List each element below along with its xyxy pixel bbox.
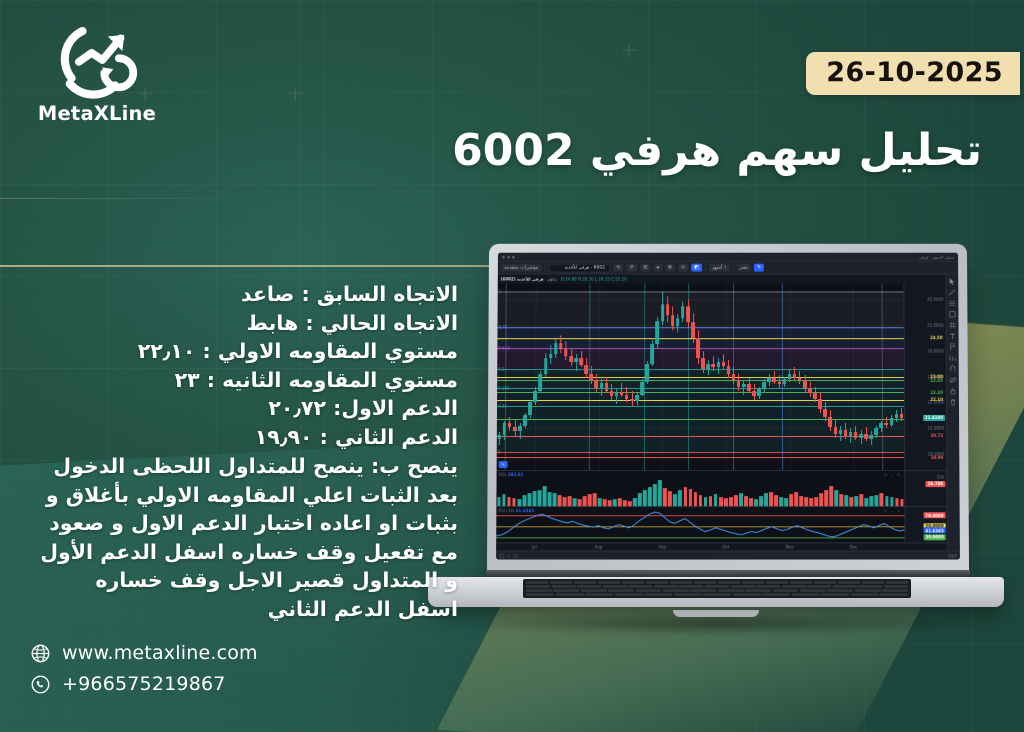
volume-bar xyxy=(673,494,677,506)
volume-bar xyxy=(729,497,733,506)
candlestick-wick xyxy=(693,313,694,343)
volume-bar xyxy=(774,495,778,506)
volume-bar xyxy=(845,495,849,506)
candlestick-wick xyxy=(871,431,872,445)
volume-bar xyxy=(829,486,833,506)
price-axis-tick: 21.0000 xyxy=(928,426,945,431)
price-pane[interactable]: 10.750.6180.50.3820.250 26.000025.000024… xyxy=(497,283,947,470)
level-label-resistance: 24.50 xyxy=(928,335,945,341)
last-price-badge: 21.4100 xyxy=(923,415,945,421)
status-left-icons[interactable] xyxy=(499,553,518,558)
date-badge: 26-10-2025 xyxy=(806,52,1020,95)
fullscreen-icon[interactable] xyxy=(499,553,504,558)
analysis-line-support1: الدعم الاول: ٢٠٫٧٢ xyxy=(40,394,458,423)
laptop-body xyxy=(428,577,1004,607)
candlestick-wick xyxy=(850,428,851,442)
volume-bar xyxy=(709,496,713,506)
keyboard-key xyxy=(674,593,702,596)
volume-bar xyxy=(678,490,682,506)
candlestick-wick xyxy=(891,415,892,427)
volume-bar xyxy=(824,490,828,507)
keyboard-key xyxy=(603,585,627,588)
keyboard-key xyxy=(855,589,881,592)
rsi-line-series xyxy=(496,507,904,542)
volume-bar xyxy=(749,498,753,506)
volume-bar xyxy=(840,494,844,506)
candlestick-wick xyxy=(606,377,607,394)
volume-bar xyxy=(603,500,607,507)
measure-icon[interactable] xyxy=(949,354,957,362)
keyboard-key xyxy=(556,593,584,596)
volume-bar xyxy=(578,499,582,506)
text-tool-icon[interactable] xyxy=(949,332,957,340)
rsi-pane-tag: RSI (14) 41.6343 xyxy=(498,508,534,513)
alert-icon[interactable]: ⊕ xyxy=(665,264,675,272)
volume-bar xyxy=(507,497,511,506)
time-axis-tick: Oct xyxy=(722,544,729,549)
camera-icon[interactable]: ◂ xyxy=(653,264,661,272)
candlestick-wick xyxy=(698,330,699,364)
candlestick-wick xyxy=(667,296,668,322)
drawing-tool-label: ✎ xyxy=(502,462,505,467)
volume-bar xyxy=(850,497,854,506)
app-chart-body: هرفي للأغذية (6002) تداول O:24.80 H:26.3… xyxy=(496,275,947,551)
candlestick-wick xyxy=(876,426,877,438)
keyboard-key xyxy=(598,581,620,584)
candlestick-wick xyxy=(759,387,760,399)
volume-bar xyxy=(557,495,561,506)
keyboard-key xyxy=(636,589,662,592)
volume-value: 292.61 xyxy=(508,472,523,477)
candlestick-wick xyxy=(555,339,556,358)
magnet-icon[interactable] xyxy=(949,365,957,373)
keyboard-key xyxy=(880,593,908,596)
volume-pane-controls[interactable]: ⊙ ⌄ ✕ xyxy=(884,472,902,477)
volume-bar xyxy=(497,497,501,506)
pencil-tool-button[interactable]: ✎ xyxy=(754,264,764,272)
keyboard-key xyxy=(807,585,831,588)
volume-bar xyxy=(683,487,687,506)
candlestick-wick xyxy=(799,371,800,384)
window-minimize-icon[interactable] xyxy=(507,255,510,258)
volume-pane[interactable]: VOL 292.61 ⊙ ⌄ ✕ 26.78K500 xyxy=(496,470,946,506)
candlestick-wick xyxy=(677,314,678,332)
volume-bar xyxy=(819,493,823,506)
volume-bar xyxy=(693,492,697,506)
rsi-badge: 30.0000 xyxy=(923,534,945,540)
fib-line xyxy=(497,327,903,328)
volume-bar xyxy=(568,496,572,506)
volume-bar xyxy=(704,497,708,506)
keyboard-key xyxy=(581,589,607,592)
volume-bar xyxy=(633,499,637,507)
camera-icon[interactable] xyxy=(506,553,511,558)
toolbar-divider xyxy=(544,264,545,272)
candlestick-wick xyxy=(545,353,546,376)
candlestick-wick xyxy=(642,379,643,396)
volume-plot-area[interactable] xyxy=(496,471,904,506)
rsi-pane-controls[interactable]: ⊙ ⌄ ✕ xyxy=(884,508,902,513)
volume-bar xyxy=(734,495,738,506)
candlestick-wick xyxy=(810,382,811,398)
volume-bar xyxy=(618,498,622,506)
lock-icon[interactable] xyxy=(949,387,957,395)
fib-line xyxy=(497,388,904,389)
candlestick-wick xyxy=(764,379,765,392)
candlestick-wick xyxy=(728,360,729,378)
keyboard-key xyxy=(574,581,596,584)
volume-bar xyxy=(588,494,592,506)
analysis-line-resistance1: مستوي المقاومه الاولي : ٢٢٫١٠ xyxy=(40,337,458,366)
candlestick-wick xyxy=(861,430,862,444)
candlestick-wick xyxy=(718,358,719,374)
keyboard-key xyxy=(782,585,806,588)
candlestick-wick xyxy=(611,384,612,400)
volume-bar xyxy=(638,493,642,507)
volume-axis[interactable]: 26.78K500 xyxy=(904,471,946,506)
rsi-badge: 70.0000 xyxy=(923,512,945,518)
fib-level-label: 1 xyxy=(499,289,502,294)
menu-file-button[interactable]: نشر xyxy=(737,264,752,272)
rsi-badge: 41.6343 xyxy=(923,528,945,534)
window-close-icon[interactable] xyxy=(502,255,505,258)
candlestick-wick xyxy=(815,387,816,403)
cursor-icon[interactable] xyxy=(948,278,956,286)
keyboard-row xyxy=(526,581,908,584)
window-controls[interactable] xyxy=(502,255,515,258)
candlestick-wick xyxy=(514,419,515,436)
keyboard-key xyxy=(886,581,908,584)
volume-bar xyxy=(688,489,692,506)
candlestick-wick xyxy=(784,377,785,387)
keyboard-key xyxy=(790,581,812,584)
analysis-text-block: الاتجاه السابق : صاعد الاتجاه الحالي : ه… xyxy=(40,280,458,623)
volume-bar xyxy=(517,500,521,507)
level-label-resistance-1: 22.10 xyxy=(928,397,945,403)
flag-icon[interactable] xyxy=(949,343,957,351)
volume-bar xyxy=(870,497,874,507)
timeframe-button[interactable]: ١ أشهر xyxy=(709,264,730,272)
chart-legend: هرفي للأغذية (6002) تداول O:24.80 H:26.3… xyxy=(498,275,945,284)
price-axis-tick: 25.0000 xyxy=(927,322,944,327)
volume-bar xyxy=(865,498,869,506)
volume-bar xyxy=(714,494,718,506)
indicators-button[interactable]: مؤشرات متقدمة xyxy=(501,264,542,272)
level-line-trend xyxy=(497,380,904,381)
candlestick-wick xyxy=(896,410,897,422)
candlestick-wick xyxy=(576,355,577,372)
level-label-trend: 22.85 xyxy=(928,377,945,383)
level-line-trend xyxy=(497,419,904,420)
candlestick-wick xyxy=(591,366,592,384)
volume-bar xyxy=(789,494,793,506)
status-clock: 24/7 xyxy=(948,553,957,558)
price-plot-area[interactable]: 10.750.6180.50.3820.250 xyxy=(497,283,905,470)
time-axis-tick: Aug xyxy=(594,544,602,549)
keyboard-key xyxy=(553,589,579,592)
whatsapp-icon xyxy=(30,674,51,695)
candlestick-wick xyxy=(561,335,562,353)
fib-line xyxy=(497,369,904,370)
level-line-support-2 xyxy=(497,457,905,458)
keyboard-key xyxy=(792,593,820,596)
keyboard-key xyxy=(646,581,668,584)
compare-icon[interactable]: ℗ xyxy=(626,264,637,272)
candlestick-wick xyxy=(804,375,805,392)
keyboard-key xyxy=(550,581,572,584)
candlestick-wick xyxy=(601,379,602,396)
volume-bar xyxy=(784,498,788,506)
volume-bar xyxy=(598,498,602,506)
rsi-plot-area[interactable] xyxy=(496,507,904,542)
candlestick-wick xyxy=(901,408,902,421)
volume-bar xyxy=(764,493,768,506)
volume-bar xyxy=(875,495,879,506)
volume-bar xyxy=(759,496,763,506)
keyboard-key xyxy=(833,585,857,588)
candlestick-wick xyxy=(657,317,658,348)
level-label-support-2: 19.90 xyxy=(929,454,946,460)
keyboard-key xyxy=(703,593,731,596)
fib-level-label: 0.5 xyxy=(498,366,504,371)
candlestick-wick xyxy=(540,371,541,393)
symbol-search-input[interactable]: 6002 - هرفي للأغذية xyxy=(548,263,610,272)
price-gridline xyxy=(497,454,905,455)
volume-bar xyxy=(804,497,808,506)
keyboard-key xyxy=(742,581,764,584)
volume-bar xyxy=(527,493,531,506)
keyboard-key xyxy=(827,589,853,592)
keyboard-row xyxy=(526,585,908,588)
drawing-tool-badge[interactable]: ✎ xyxy=(499,461,508,468)
settings-icon[interactable]: ⊙ xyxy=(678,264,688,272)
candlestick-wick xyxy=(621,383,622,397)
candlestick-wick xyxy=(637,392,638,405)
volume-bar xyxy=(900,500,904,507)
volume-bar xyxy=(895,498,899,506)
keyboard-key xyxy=(615,593,643,596)
volume-bar xyxy=(794,492,798,506)
laptop-screen: تحليل الأسهم - هرفي ✎ نشر ١ أشهر ◩ ⊙ ⊕ ◂… xyxy=(496,253,960,560)
keyboard-key xyxy=(690,589,716,592)
legend-ohlc: O:24.80 H:26.30 L:24.33 C:25.10 xyxy=(561,277,627,282)
legend-exchange: تداول xyxy=(548,277,557,282)
candlestick-wick xyxy=(519,423,520,439)
keyboard-key xyxy=(654,585,678,588)
time-axis[interactable]: JulAugSepOctNovDec xyxy=(496,542,947,550)
volume-bar xyxy=(522,495,526,506)
rsi-value: 41.6343 xyxy=(516,508,534,513)
price-axis[interactable]: 26.000025.000024.000023.000022.000021.00… xyxy=(903,283,946,470)
level-line-resistance xyxy=(497,338,903,339)
fib-band xyxy=(498,291,904,327)
volume-bar xyxy=(583,496,587,506)
undo-icon[interactable]: ⟲ xyxy=(613,264,623,272)
keyboard-key xyxy=(577,585,601,588)
volume-bar xyxy=(562,497,566,506)
keyboard-key xyxy=(644,593,672,596)
volume-bar xyxy=(532,491,536,506)
volume-bar xyxy=(719,497,723,506)
fib-retracement-icon[interactable] xyxy=(948,299,956,307)
eye-hide-icon[interactable] xyxy=(949,376,957,384)
laptop-shadow xyxy=(458,613,974,635)
app-right-toolbar xyxy=(945,275,960,551)
fib-level-label: 0 xyxy=(498,449,501,454)
candlestick-wick xyxy=(632,391,633,407)
keyboard-key xyxy=(745,589,771,592)
fib-line xyxy=(497,452,904,453)
toolbar-divider xyxy=(705,264,706,272)
candlestick-wick xyxy=(840,426,841,442)
analysis-line-support2: الدعم الثاني : ١٩٫٩٠ xyxy=(40,423,458,452)
zoom-in-icon[interactable] xyxy=(513,553,518,558)
volume-bar xyxy=(699,495,703,506)
candlestick-wick xyxy=(779,375,780,388)
volume-bar xyxy=(648,487,652,506)
trash-icon[interactable] xyxy=(949,398,957,406)
keyboard-key xyxy=(756,585,780,588)
volume-bar xyxy=(537,490,541,507)
volume-bar xyxy=(754,499,758,506)
candlestick-wick xyxy=(504,421,505,440)
keyboard-key xyxy=(628,585,652,588)
time-axis-tick: Nov xyxy=(786,544,794,549)
footer-whatsapp-text: +966575219867 xyxy=(62,673,226,695)
candlestick-wick xyxy=(774,371,775,384)
trendline-icon[interactable] xyxy=(948,288,956,296)
keyboard-key xyxy=(718,581,740,584)
time-axis-tick: Jul xyxy=(532,544,537,549)
indicator-toggle-icon[interactable]: ◩ xyxy=(691,264,702,272)
price-axis-tick: 26.0000 xyxy=(927,296,944,301)
volume-bar xyxy=(739,494,743,507)
time-gridline xyxy=(726,283,727,470)
app-toolbar: ✎ نشر ١ أشهر ◩ ⊙ ⊕ ◂ ⊞ ℗ ⟲ 6002 - هرفي ل… xyxy=(498,262,958,275)
keyboard-key xyxy=(663,589,689,592)
volume-bar xyxy=(799,496,803,506)
candlestick-wick xyxy=(672,307,673,330)
candlestick-wick xyxy=(652,340,653,366)
analysis-line-resistance2: مستوي المقاومه الثانيه : ٢٣ xyxy=(40,366,458,395)
keyboard-key xyxy=(526,593,554,596)
time-axis-tick: Sep xyxy=(658,544,666,549)
footer-contact: www.metaxline.com +966575219867 xyxy=(30,642,258,704)
volume-bar xyxy=(809,499,813,507)
app-status-bar: 24/7 xyxy=(496,550,960,559)
candlestick-wick xyxy=(688,299,689,327)
keyboard-key xyxy=(552,585,576,588)
level-label-support-1: 20.72 xyxy=(928,433,945,439)
candlestick-wick xyxy=(626,387,627,403)
volume-bar xyxy=(880,494,884,507)
candlestick-wick xyxy=(738,374,739,391)
volume-bar xyxy=(668,491,672,506)
keyboard-key xyxy=(526,585,550,588)
keyboard-key xyxy=(705,585,729,588)
candlestick-wick xyxy=(703,351,704,373)
price-axis-tick: 24.0000 xyxy=(927,348,944,353)
candlestick-wick xyxy=(881,421,882,433)
globe-icon xyxy=(30,643,51,664)
candlestick-wick xyxy=(743,380,744,394)
keyboard-key xyxy=(858,585,882,588)
volume-bar xyxy=(860,494,864,506)
fib-band xyxy=(497,388,904,406)
level-line-resistance-1 xyxy=(497,400,904,401)
laptop-base xyxy=(428,570,1004,618)
analysis-line-prev-trend: الاتجاه السابق : صاعد xyxy=(40,280,458,309)
volume-bar xyxy=(573,498,577,506)
keyboard-key xyxy=(882,589,908,592)
volume-bar xyxy=(593,493,597,506)
fib-level-label: 0.618 xyxy=(498,346,509,351)
candlestick-wick xyxy=(830,410,831,431)
candlestick-wick xyxy=(586,358,587,377)
keyboard-key xyxy=(773,589,799,592)
keyboard-key xyxy=(762,593,790,596)
analysis-line-curr-trend: الاتجاه الحالي : هابط xyxy=(40,309,458,338)
footer-whatsapp-row[interactable]: +966575219867 xyxy=(30,673,258,695)
keyboard-key xyxy=(884,585,908,588)
grid-icon[interactable] xyxy=(948,321,956,329)
keyboard-key xyxy=(526,589,552,592)
level-line-resistance-2 xyxy=(497,377,904,378)
keyboard-key xyxy=(585,593,613,596)
window-maximize-icon[interactable] xyxy=(512,255,515,258)
keyboard-key xyxy=(694,581,716,584)
candlestick-wick xyxy=(566,342,567,360)
candlestick-wick xyxy=(835,419,836,437)
volume-label: VOL xyxy=(499,472,507,477)
footer-website-row[interactable]: www.metaxline.com xyxy=(30,642,258,664)
volume-bar xyxy=(855,496,859,506)
volume-bar xyxy=(542,486,546,506)
rsi-pane[interactable]: RSI (14) 41.6343 ⊙ ⌄ ✕ 70.000050.000041.… xyxy=(496,506,947,542)
candlestick-wick xyxy=(723,355,724,371)
volume-bar xyxy=(658,480,662,506)
app-titlebar: تحليل الأسهم - هرفي xyxy=(498,253,958,262)
trading-app: تحليل الأسهم - هرفي ✎ نشر ١ أشهر ◩ ⊙ ⊕ ◂… xyxy=(496,253,960,560)
brand-logo: MetaXLine xyxy=(32,22,162,125)
candlestick-wick xyxy=(647,361,648,384)
keyboard-key xyxy=(622,581,644,584)
shapes-icon[interactable] xyxy=(948,310,956,318)
candlestick-wick xyxy=(754,384,755,400)
candlestick-wick xyxy=(708,360,709,376)
metaxline-arrow-logo-icon xyxy=(51,22,143,100)
candlestick-wick xyxy=(509,417,510,431)
candlestick-wick xyxy=(866,427,867,441)
layout-icon[interactable]: ⊞ xyxy=(640,264,650,272)
fib-level-label: 0.382 xyxy=(498,386,509,391)
keyboard-key xyxy=(526,581,548,584)
keyboard-key xyxy=(608,589,634,592)
keyboard-key xyxy=(766,581,788,584)
rsi-axis[interactable]: 70.000050.000041.634330.0000 xyxy=(904,507,946,542)
keyboard-key xyxy=(862,581,884,584)
level-line-trend xyxy=(497,392,904,393)
keyboard-row xyxy=(526,593,908,596)
volume-bar xyxy=(779,497,783,506)
candlestick-wick xyxy=(886,417,887,429)
page-title: تحليل سهم هرفي 6002 xyxy=(342,125,982,176)
volume-bar xyxy=(885,496,889,506)
volume-scale-tick: 500 xyxy=(937,474,945,479)
candlestick-wick xyxy=(855,426,856,440)
app-window-title: تحليل الأسهم - هرفي xyxy=(919,254,954,259)
keyboard-key xyxy=(814,581,836,584)
